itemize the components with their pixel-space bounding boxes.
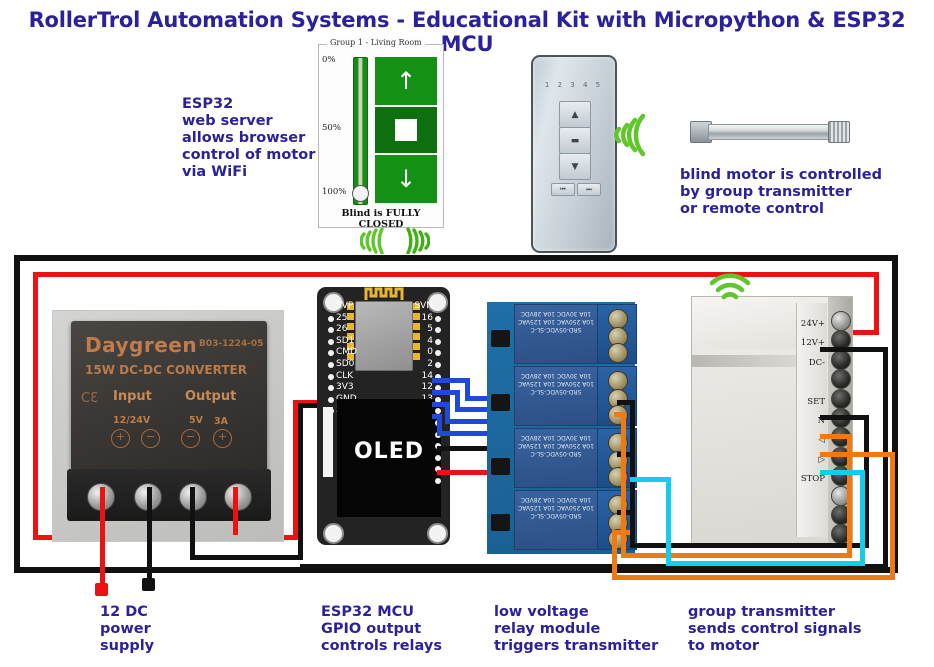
caption-esp32-web-server: ESP32 web server allows browser control … — [182, 96, 315, 181]
gtx-label-panel: 24V+12V+DC-SETN◁▷STOP — [796, 303, 827, 537]
esp32-pad-right-2[interactable] — [435, 362, 441, 368]
esp32-pin-left-3v3: 3V3 — [336, 382, 357, 394]
esp32-pin-left-clk: CLK — [336, 371, 357, 383]
wire-red-out-vert — [233, 487, 238, 535]
wire-gpio-15-c — [437, 431, 490, 436]
tubular-blind-motor — [690, 120, 848, 142]
browser-blind-control-panel[interactable]: Group 1 - Living Room 0% 50% 100% ↑ ↓ Bl… — [318, 44, 444, 228]
gtx-top-face — [692, 297, 798, 349]
wire-orange-left-bus — [621, 553, 852, 558]
up-arrow-icon: ↑ — [396, 69, 416, 93]
motor-crown — [828, 121, 850, 143]
esp32-pin-right-14: 14 — [399, 371, 433, 383]
esp32-pin-right-svn: SVN — [399, 301, 433, 313]
wire-cyan-relay3 — [630, 477, 671, 482]
converter-output-current: 3A — [214, 416, 228, 427]
relay-3: SRD-05VDC-SL-C10A 250VAC 10A 125VAC10A 3… — [514, 428, 598, 488]
blind-up-button[interactable]: ↑ — [375, 57, 437, 105]
dc-dc-converter-module: Daygreen B03-1224-05 15W DC-DC CONVERTER… — [52, 310, 284, 542]
relay-screw-2a[interactable] — [608, 371, 628, 391]
esp32-pad-right-16[interactable] — [435, 316, 441, 322]
wire-black-relay4-com — [617, 510, 635, 515]
esp32-pad-right-svn[interactable] — [435, 304, 441, 310]
terminal-positive — [95, 583, 108, 596]
wire-black-relay-gnd — [437, 446, 490, 451]
blind-stop-button[interactable] — [375, 107, 437, 153]
optocoupler-3 — [491, 458, 510, 475]
wire-cyan-bus — [666, 561, 865, 566]
esp32-pin-right-4: 4 — [399, 336, 433, 348]
oled-label: OLED — [337, 439, 441, 464]
wire-orange-right-down — [890, 452, 895, 580]
wire-cyan-up — [666, 477, 671, 566]
relay-4: SRD-05VDC-SL-C10A 250VAC 10A 125VAC10A 3… — [514, 490, 598, 550]
caption-esp32-mcu: ESP32 MCU GPIO output controls relays — [321, 604, 442, 655]
wire-black-dc-return — [883, 347, 888, 569]
esp32-pad-right-0[interactable] — [435, 350, 441, 356]
relay-2-label: SRD-05VDC-SL-C10A 250VAC 10A 125VAC10A 3… — [515, 371, 597, 395]
blind-down-button[interactable]: ↓ — [375, 155, 437, 203]
esp32-pin-left-sd0: SD0 — [336, 359, 357, 371]
wire-gpio-12-c — [455, 407, 490, 412]
esp32-pad-right-4[interactable] — [435, 339, 441, 345]
wire-black-to-esp-gnd — [298, 403, 303, 560]
converter-terminal-in-minus: − — [141, 429, 160, 448]
wire-red-supply-vert — [100, 487, 105, 587]
esp32-pin-left-sd1: SD1 — [336, 336, 357, 348]
esp32-pin-right-16: 16 — [399, 313, 433, 325]
esp32-pad-left-5v[interactable] — [328, 408, 334, 414]
esp32-pin-left-svp: SVP — [336, 301, 357, 313]
esp32-pin-right-5: 5 — [399, 324, 433, 336]
relay-2: SRD-05VDC-SL-C10A 250VAC 10A 125VAC10A 3… — [514, 366, 598, 426]
relay-screw-1c[interactable] — [608, 343, 628, 363]
wire-orange-left-up — [621, 412, 626, 558]
remote-stop-button[interactable]: ▬ — [559, 127, 591, 154]
stop-square-icon — [395, 119, 417, 141]
wire-cyan-stop — [820, 470, 865, 475]
remote-prev-channel-button[interactable]: ⏮ — [551, 183, 575, 196]
remote-channel-numbers: 1 2 3 4 5 — [533, 81, 615, 89]
converter-output-voltage: 5V — [189, 415, 203, 426]
converter-output-label: Output — [185, 389, 236, 404]
esp32-pad-left-3v3[interactable] — [328, 385, 334, 391]
blind-position-slider-track[interactable] — [353, 57, 368, 205]
wire-orange-relay4 — [612, 530, 630, 535]
esp32-pad-right-vin[interactable] — [435, 478, 441, 484]
screw-terminal-4[interactable] — [224, 483, 252, 511]
optocoupler-1 — [491, 330, 510, 347]
esp32-pad-left-clk[interactable] — [328, 374, 334, 380]
wire-orange-right-bus — [612, 575, 895, 580]
esp32-pad-left-sd1[interactable] — [328, 339, 334, 345]
four-channel-relay-module: SRD-05VDC-SL-C10A 250VAC 10A 125VAC10A 3… — [487, 302, 635, 554]
terminal-negative — [142, 578, 155, 591]
converter-brand: Daygreen — [85, 333, 197, 357]
wire-orange-right-up — [612, 530, 617, 580]
blind-position-slider-handle[interactable] — [352, 185, 369, 202]
converter-input-label: Input — [113, 389, 152, 404]
group-legend: Group 1 - Living Room — [327, 38, 425, 47]
wire-orange-relay2 — [614, 412, 626, 417]
gtx-terminal-label-24V: 24V+ — [801, 319, 825, 329]
wire-black-n-up — [630, 400, 635, 548]
down-arrow-icon: ↓ — [396, 167, 416, 191]
caption-group-transmitter: group transmitter sends control signals … — [688, 604, 861, 655]
mount-hole-br — [427, 523, 448, 544]
caption-relay-module: low voltage relay module triggers transm… — [494, 604, 658, 655]
remote-next-channel-button[interactable]: ⏭ — [577, 183, 601, 196]
esp32-pad-left-sd0[interactable] — [328, 362, 334, 368]
pcb-antenna-icon — [364, 285, 404, 301]
esp32-pad-right-5[interactable] — [435, 327, 441, 333]
relay-screw-1a[interactable] — [608, 309, 628, 329]
remote-control[interactable]: 1 2 3 4 5 ▲ ▬ ▼ ⏮ ⏭ — [531, 55, 617, 253]
scale-label-0: 0% — [322, 55, 336, 65]
wifi-signal-icon-transmitter — [706, 272, 754, 300]
wire-black-relay3-com — [617, 452, 635, 457]
motor-tube — [708, 124, 832, 140]
remote-up-button[interactable]: ▲ — [559, 101, 591, 128]
gtx-terminal-label-STOP: STOP — [801, 474, 825, 484]
wire-black-dc-minus — [820, 347, 888, 352]
gtx-terminal-hole-2[interactable] — [831, 350, 851, 370]
wire-black-out-horiz — [190, 555, 303, 560]
gtx-terminal-label-DC: DC- — [809, 358, 825, 368]
converter-terminal-in-plus: + — [111, 429, 130, 448]
wire-red-left — [33, 272, 38, 540]
wire-orange-right-arrow — [820, 452, 895, 457]
converter-case: Daygreen B03-1224-05 15W DC-DC CONVERTER… — [71, 321, 267, 471]
wire-black-out-vert — [190, 487, 195, 560]
converter-rating: 15W DC-DC CONVERTER — [85, 363, 247, 377]
esp32-pin-left-26: 26 — [336, 324, 357, 336]
gtx-seam — [692, 355, 798, 367]
oled-display: OLED — [337, 399, 441, 517]
esp32-pad-left-26[interactable] — [328, 327, 334, 333]
gtx-terminal-hole-0[interactable] — [831, 311, 851, 331]
gtx-terminal-hole-3[interactable] — [831, 369, 851, 389]
remote-down-button[interactable]: ▼ — [559, 153, 591, 180]
wifi-signal-icon-remote — [613, 113, 661, 157]
wire-black-relay2-com — [617, 400, 635, 405]
esp32-pad-left-25[interactable] — [328, 316, 334, 322]
page-title: RollerTrol Automation Systems - Educatio… — [0, 8, 934, 56]
esp32-pad-left-svp[interactable] — [328, 304, 334, 310]
gtx-terminal-hole-4[interactable] — [831, 389, 851, 409]
wire-red-right-down — [874, 272, 879, 334]
esp32-pad-left-gnd[interactable] — [328, 397, 334, 403]
scale-label-100: 100% — [322, 187, 346, 197]
wire-red-relay-vcc — [437, 470, 490, 475]
esp32-pin-right-2: 2 — [399, 359, 433, 371]
converter-terminal-out-plus: + — [213, 429, 232, 448]
relay-3-label: SRD-05VDC-SL-C10A 250VAC 10A 125VAC10A 3… — [515, 433, 597, 457]
esp32-pin-left-25: 25 — [336, 313, 357, 325]
wire-gpio-13-c — [445, 419, 490, 424]
caption-blind-motor: blind motor is controlled by group trans… — [680, 167, 882, 218]
wifi-signal-icon-browser — [360, 226, 430, 254]
ce-mark-icon: CƐ — [81, 391, 98, 406]
converter-model: B03-1224-05 — [199, 339, 263, 349]
scale-label-50: 50% — [322, 123, 341, 133]
group-transmitter-unit: 24V+12V+DC-SETN◁▷STOP — [691, 296, 853, 544]
converter-terminal-out-minus: − — [181, 429, 200, 448]
esp32-pad-right-gnd[interactable] — [435, 455, 441, 461]
relay-1: SRD-05VDC-SL-C10A 250VAC 10A 125VAC10A 3… — [514, 304, 598, 364]
esp32-pin-right-12: 12 — [399, 382, 433, 394]
esp32-pin-left-cmd: CMD — [336, 347, 357, 359]
converter-input-voltage: 12/24V — [113, 415, 150, 426]
wire-black-supply-vert — [147, 487, 152, 582]
esp32-pin-right-0: 0 — [399, 347, 433, 359]
esp32-mcu-board: SVP2526SD1CMDSD0CLK3V3GND5V SVN165402141… — [317, 287, 450, 545]
optocoupler-2 — [491, 394, 510, 411]
esp32-pad-left-cmd[interactable] — [328, 350, 334, 356]
optocoupler-4 — [491, 514, 510, 531]
relay-4-label: SRD-05VDC-SL-C10A 250VAC 10A 125VAC10A 3… — [515, 495, 597, 519]
wire-black-n-terminal — [820, 415, 869, 420]
wire-cyan-down — [860, 470, 865, 566]
gtx-terminal-label-SET: SET — [807, 397, 825, 407]
converter-screw-terminal-strip — [67, 469, 271, 521]
relay-terminal-block-1[interactable] — [597, 304, 637, 364]
caption-power-supply: 12 DC power supply — [100, 604, 154, 655]
relay-1-label: SRD-05VDC-SL-C10A 250VAC 10A 125VAC10A 3… — [515, 309, 597, 333]
mount-hole-bl — [323, 523, 344, 544]
oled-ribbon-tab — [323, 407, 333, 477]
